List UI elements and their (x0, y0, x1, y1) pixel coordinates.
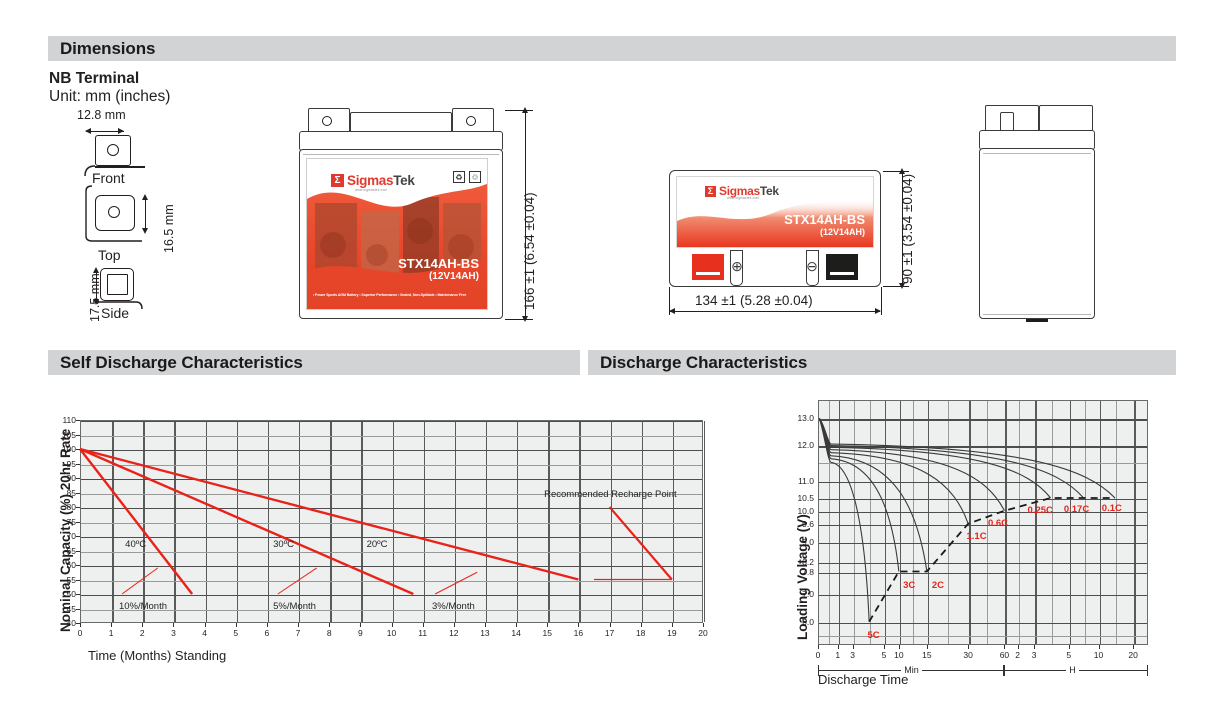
dc-xtick-mark (1099, 645, 1100, 649)
sd-ytick-label: 85 (54, 488, 76, 498)
sd-annotation: 3%/Month (432, 601, 475, 612)
sd-ytick-mark (76, 551, 80, 552)
sd-ytick-mark (76, 565, 80, 566)
dc-xtick-mark (968, 645, 969, 649)
sd-ytick-label: 105 (54, 430, 76, 440)
sd-ytick-mark (76, 493, 80, 494)
sd-xtick-mark (423, 623, 424, 627)
sd-xtick-mark (454, 623, 455, 627)
sd-ytick-mark (76, 435, 80, 436)
sd-xtick-label: 5 (226, 628, 246, 638)
span-cap-left (1004, 665, 1005, 676)
sd-annotation: 40ºC (125, 539, 146, 550)
sd-xtick-mark (516, 623, 517, 627)
sd-ytick-label: 70 (54, 531, 76, 541)
sd-xtick-mark (205, 623, 206, 627)
dc-xtick-mark (1004, 645, 1005, 649)
dc-ytick-label: 9.0 (786, 537, 814, 547)
dc-xtick-label: 0 (808, 650, 828, 660)
dc-axis-span-label: Min (901, 665, 922, 675)
sd-xtick-label: 17 (600, 628, 620, 638)
sd-xtick-mark (672, 623, 673, 627)
dc-curve-label: 0.25C (1028, 505, 1053, 516)
dc-ytick-label: 6.0 (786, 617, 814, 627)
sd-ytick-mark (76, 580, 80, 581)
sd-xtick-label: 14 (506, 628, 526, 638)
dc-xtick-label: 10 (889, 650, 909, 660)
sd-xtick-label: 15 (537, 628, 557, 638)
sd-xtick-mark (298, 623, 299, 627)
dc-ytick-label: 13.0 (786, 413, 814, 423)
sd-ytick-mark (76, 594, 80, 595)
sd-ytick-label: 50 (54, 589, 76, 599)
dc-curve-label: 3C (903, 580, 915, 591)
sd-xtick-label: 2 (132, 628, 152, 638)
dc-series-curve (819, 418, 1083, 498)
dc-curve-label: 0.1C (1102, 503, 1122, 514)
datasheet-page: Dimensions NB Terminal Unit: mm (inches)… (0, 0, 1222, 702)
dc-xtick-mark (818, 645, 819, 649)
dc-xtick-label: 15 (917, 650, 937, 660)
sd-annotation: 10%/Month (119, 601, 167, 612)
sd-ytick-mark (76, 478, 80, 479)
sd-annotation: 30ºC (273, 539, 294, 550)
sd-xtick-mark (267, 623, 268, 627)
sd-xtick-mark (173, 623, 174, 627)
dc-curve-label: 0.6C (988, 518, 1008, 529)
dc-xtick-label: 3 (1024, 650, 1044, 660)
dc-xtick-mark (1133, 645, 1134, 649)
dc-xtick-mark (853, 645, 854, 649)
sd-xtick-mark (703, 623, 704, 627)
sd-xtick-label: 20 (693, 628, 713, 638)
dc-ytick-label: 7.0 (786, 589, 814, 599)
sd-xtick-label: 4 (195, 628, 215, 638)
dc-ytick-label: 9.6 (786, 519, 814, 529)
span-cap-right (1147, 665, 1148, 676)
sd-ytick-mark (76, 609, 80, 610)
sd-xtick-mark (392, 623, 393, 627)
sd-xtick-label: 12 (444, 628, 464, 638)
sd-xtick-mark (578, 623, 579, 627)
sd-ytick-mark (76, 623, 80, 624)
sd-xtick-label: 16 (568, 628, 588, 638)
sd-xtick-label: 0 (70, 628, 90, 638)
sd-xtick-mark (111, 623, 112, 627)
dc-series-curve (819, 418, 1004, 510)
sd-ytick-label: 45 (54, 604, 76, 614)
dc-xtick-mark (1069, 645, 1070, 649)
dc-ytick-label: 10.0 (786, 506, 814, 516)
sd-ytick-label: 75 (54, 517, 76, 527)
sd-ytick-label: 55 (54, 575, 76, 585)
sd-xtick-mark (142, 623, 143, 627)
dc-xtick-mark (838, 645, 839, 649)
sd-xtick-label: 10 (382, 628, 402, 638)
sd-ytick-label: 60 (54, 560, 76, 570)
sd-xtick-mark (547, 623, 548, 627)
dc-curve-label: 1.1C (967, 531, 987, 542)
sd-ytick-mark (76, 536, 80, 537)
sd-xtick-label: 13 (475, 628, 495, 638)
dc-axis-span: H (1004, 665, 1148, 677)
sd-ytick-mark (76, 522, 80, 523)
sd-ytick-label: 110 (54, 415, 76, 425)
dc-xtick-label: 30 (958, 650, 978, 660)
sd-ytick-label: 65 (54, 546, 76, 556)
sd-xtick-mark (610, 623, 611, 627)
sd-xtick-label: 8 (319, 628, 339, 638)
dc-xtick-mark (899, 645, 900, 649)
dc-axis-span: Min (818, 665, 1004, 677)
dc-curve-label: 0.17C (1064, 504, 1089, 515)
sd-annotation: 20ºC (367, 539, 388, 550)
sd-xtick-mark (360, 623, 361, 627)
dc-ytick-label: 12.0 (786, 440, 814, 450)
dc-xtick-mark (1018, 645, 1019, 649)
dc-series-curve (819, 418, 927, 571)
sd-ytick-mark (76, 464, 80, 465)
dc-series-curve (819, 418, 968, 523)
sd-ytick-label: 90 (54, 473, 76, 483)
sd-xtick-label: 9 (350, 628, 370, 638)
dc-xtick-mark (927, 645, 928, 649)
sd-annotation: 5%/Month (273, 601, 316, 612)
sd-xtick-mark (80, 623, 81, 627)
sd-xtick-label: 1 (101, 628, 121, 638)
dc-xtick-mark (884, 645, 885, 649)
sd-ytick-label: 80 (54, 502, 76, 512)
sd-ytick-label: 100 (54, 444, 76, 454)
sd-xtick-label: 18 (631, 628, 651, 638)
dc-curve-label: 5C (868, 630, 880, 641)
sd-xtick-mark (641, 623, 642, 627)
dc-cutoff-envelope (869, 498, 1115, 622)
sd-ytick-mark (76, 507, 80, 508)
sd-annotation: Recommended Recharge Point (544, 489, 677, 500)
sd-xtick-label: 19 (662, 628, 682, 638)
dc-ytick-label: 10.5 (786, 493, 814, 503)
sd-ytick-label: 95 (54, 459, 76, 469)
dc-series-curve (819, 418, 899, 571)
dc-axis-span-label: H (1066, 665, 1079, 675)
sd-xtick-mark (485, 623, 486, 627)
dc-ytick-label: 7.8 (786, 567, 814, 577)
sd-xtick-label: 7 (288, 628, 308, 638)
sd-xtick-label: 6 (257, 628, 277, 638)
dc-xtick-label: 3 (843, 650, 863, 660)
dc-ytick-label: 11.0 (786, 476, 814, 486)
span-cap-left (818, 665, 819, 676)
sd-xtick-mark (236, 623, 237, 627)
dc-xtick-mark (1034, 645, 1035, 649)
sd-ytick-mark (76, 420, 80, 421)
dc-curve-label: 2C (932, 580, 944, 591)
dc-ytick-label: 8.2 (786, 557, 814, 567)
sd-xtick-label: 11 (413, 628, 433, 638)
sd-xtick-mark (329, 623, 330, 627)
dc-xtick-label: 5 (1059, 650, 1079, 660)
dc-series-curve (819, 418, 1050, 498)
dc-xtick-label: 20 (1123, 650, 1143, 660)
discharge-curves (0, 0, 1222, 702)
sd-ytick-mark (76, 449, 80, 450)
sd-ytick-label: 40 (54, 618, 76, 628)
sd-xtick-label: 3 (163, 628, 183, 638)
dc-xtick-label: 10 (1089, 650, 1109, 660)
